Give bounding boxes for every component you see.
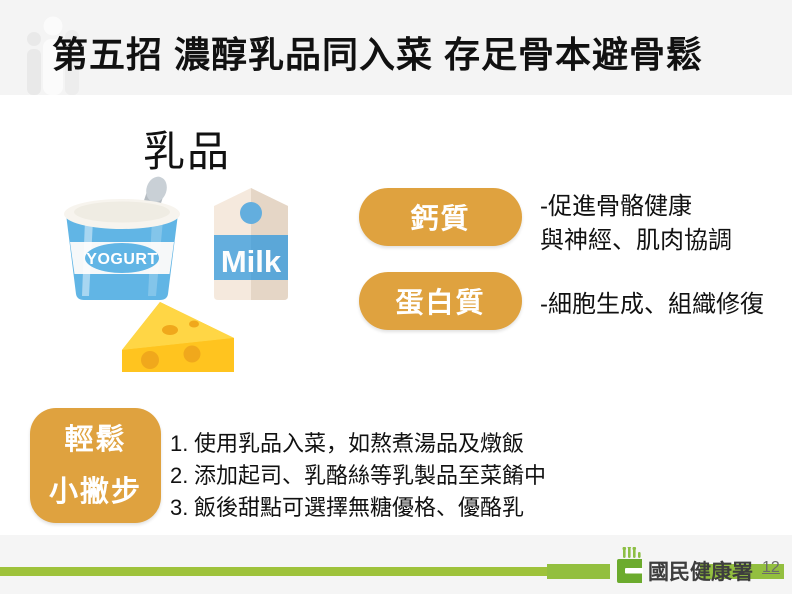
tips-list: 1.使用乳品入菜，如熬煮湯品及燉飯 2.添加起司、乳酪絲等乳製品至菜餚中 3.飯… (170, 428, 546, 524)
nutrient-pill-protein-label: 蛋白質 (395, 281, 485, 321)
hpa-logo-icon (616, 547, 646, 585)
list-item: 1.使用乳品入菜，如熬煮湯品及燉飯 (170, 428, 546, 460)
yogurt-cup-icon: YOGURT (52, 176, 192, 302)
tips-badge[interactable]: 輕鬆 小撇步 (30, 408, 161, 523)
tips-item-text: 飯後甜點可選擇無糖優格、優酪乳 (194, 495, 524, 520)
slide-canvas: 第五招 濃醇乳品同入菜 存足骨本避骨鬆 乳品 YOGURT Milk (0, 0, 792, 594)
svg-text:YOGURT: YOGURT (86, 251, 157, 268)
page-title: 第五招 濃醇乳品同入菜 存足骨本避骨鬆 (52, 26, 703, 78)
list-item: 2.添加起司、乳酪絲等乳製品至菜餚中 (170, 460, 546, 492)
nutrient-pill-calcium-label: 鈣質 (410, 197, 470, 237)
nutrient-description-protein: -細胞生成、組織修復 (540, 288, 764, 322)
nutrient-description-protein-line1: -細胞生成、組織修復 (540, 288, 764, 322)
cheese-wedge-icon (112, 292, 244, 402)
page-number: 12 (762, 559, 780, 577)
footer-green-bar-middle (547, 564, 610, 579)
tips-item-text: 添加起司、乳酪絲等乳製品至菜餚中 (194, 463, 546, 488)
footer-brand-name: 國民健康署 (648, 556, 753, 586)
list-item: 3.飯後甜點可選擇無糖優格、優酪乳 (170, 492, 546, 524)
nutrient-description-calcium-line1: -促進骨骼健康 (540, 190, 732, 224)
nutrient-pill-calcium[interactable]: 鈣質 (359, 188, 522, 246)
tips-item-number: 3. (170, 492, 194, 524)
milk-carton-icon: Milk (196, 180, 306, 302)
tips-item-text: 使用乳品入菜，如熬煮湯品及燉飯 (194, 431, 524, 456)
footer-green-bar-left (0, 567, 608, 576)
nutrient-description-calcium-line2: 與神經、肌肉協調 (540, 224, 732, 258)
nutrient-pill-protein[interactable]: 蛋白質 (359, 272, 522, 330)
tips-badge-line2: 小撇步 (49, 466, 142, 518)
section-heading: 乳品 (143, 118, 231, 179)
tips-item-number: 1. (170, 428, 194, 460)
tips-badge-line1: 輕鬆 (64, 414, 126, 466)
nutrient-description-calcium: -促進骨骼健康 與神經、肌肉協調 (540, 190, 732, 258)
svg-text:Milk: Milk (221, 244, 282, 279)
tips-item-number: 2. (170, 460, 194, 492)
